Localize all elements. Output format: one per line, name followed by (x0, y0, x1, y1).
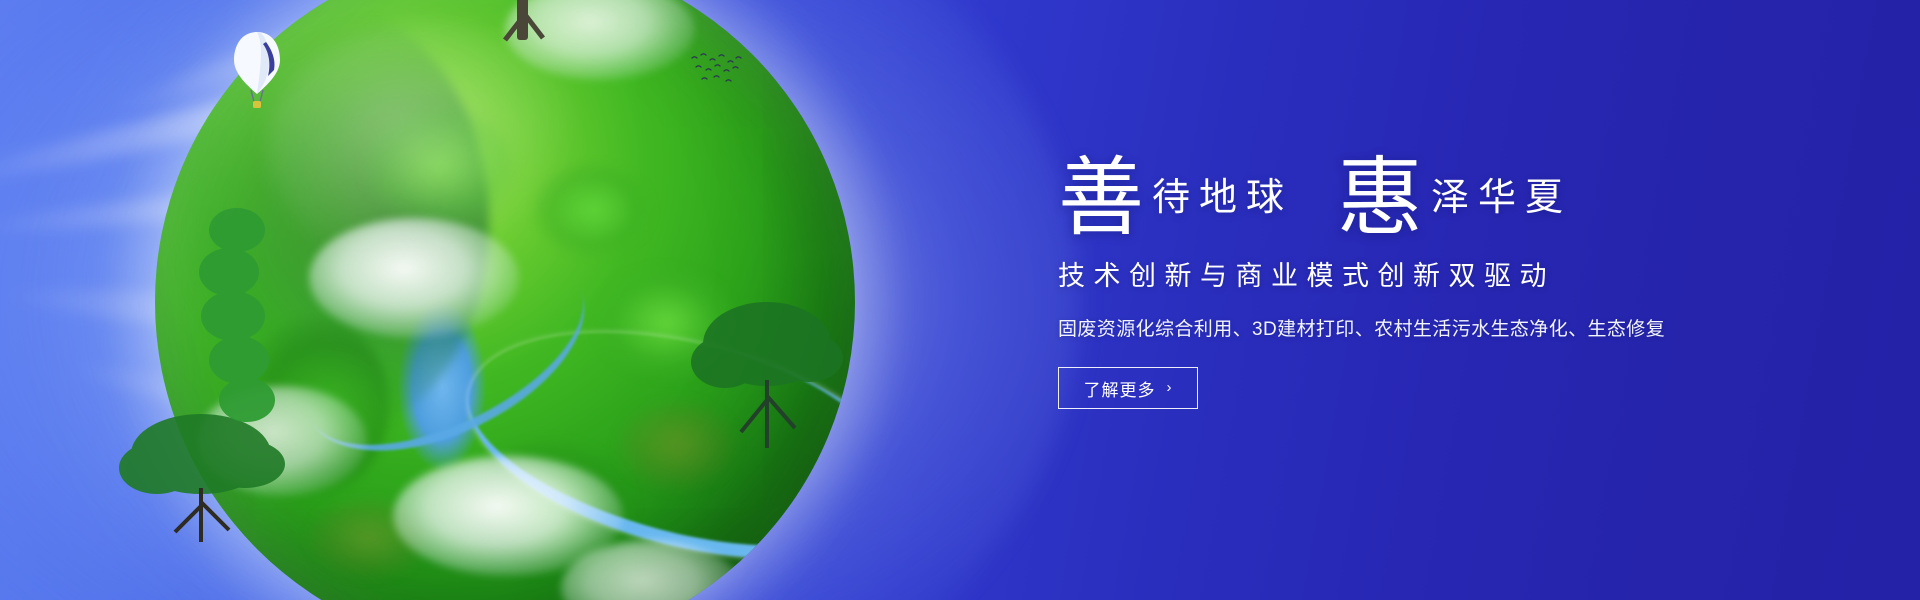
hot-air-balloon (232, 30, 282, 116)
subtitle: 技术创新与商业模式创新双驱动 (1058, 254, 1848, 293)
headline-left-big: 善 (1058, 159, 1144, 238)
headline: 善 待地球 惠 泽华夏 (1058, 128, 1848, 232)
bird-flock (690, 52, 744, 88)
globe-specular (267, 22, 587, 272)
learn-more-label: 了解更多 (1084, 376, 1156, 401)
hero-copy: 善 待地球 惠 泽华夏 技术创新与商业模式创新双驱动 固废资源化综合利用、3D建… (1058, 128, 1848, 409)
headline-right-small: 泽华夏 (1431, 178, 1572, 216)
headline-right-big: 惠 (1337, 159, 1423, 238)
headline-left-small: 待地球 (1152, 178, 1293, 216)
chevron-right-icon: › (1167, 380, 1173, 395)
hero-banner: 善 待地球 惠 泽华夏 技术创新与商业模式创新双驱动 固废资源化综合利用、3D建… (0, 0, 1920, 600)
learn-more-button[interactable]: 了解更多 › (1058, 367, 1198, 409)
soil-patch (309, 498, 429, 578)
description: 固废资源化综合利用、3D建材打印、农村生活污水生态净化、生态修复 (1058, 314, 1848, 341)
